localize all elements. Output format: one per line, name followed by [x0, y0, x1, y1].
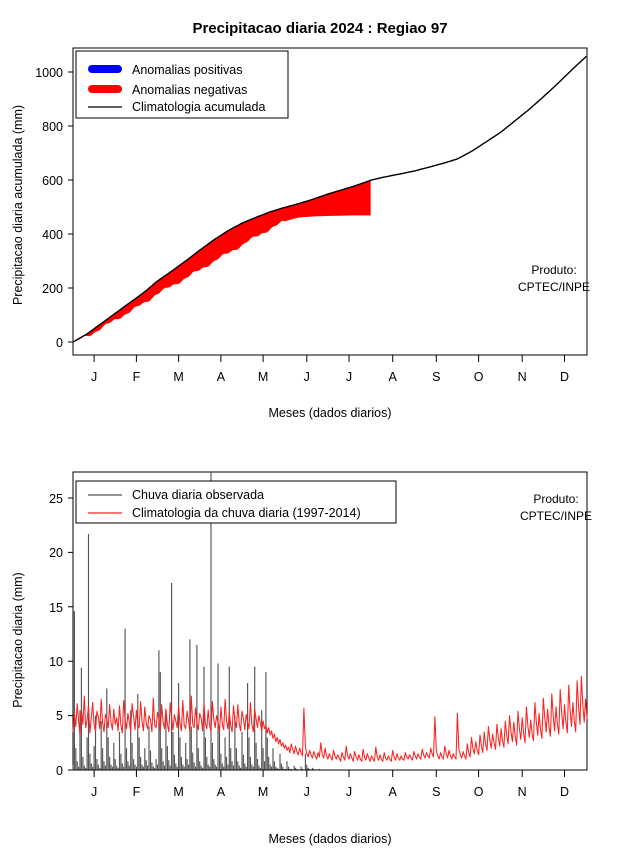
top-x-ticks: JFMAMJJASOND: [73, 355, 587, 384]
bottom-xlabel: Meses (dados diarios): [269, 832, 392, 846]
top-xtick-label-J: J: [346, 370, 352, 384]
legend-label-climatology-daily: Climatologia da chuva diaria (1997-2014): [132, 506, 361, 520]
bottom-xtick-label-J: J: [346, 785, 352, 799]
top-xtick-label-F: F: [133, 370, 141, 384]
bottom-xtick-label-F: F: [133, 785, 141, 799]
legend-swatch-negative: [88, 85, 122, 93]
bottom-xtick-label-D: D: [560, 785, 569, 799]
bottom-ytick-15: 15: [49, 601, 63, 615]
top-legend: Anomalias positivas Anomalias negativas …: [76, 51, 288, 118]
figure-svg: Precipitacao diaria 2024 : Regiao 97 0 2…: [0, 0, 640, 850]
bottom-ytick-0: 0: [56, 764, 63, 778]
top-ytick-800: 800: [42, 120, 63, 134]
top-ylabel: Precipitacao diaria acumulada (mm): [11, 105, 25, 305]
bottom-xtick-label-N: N: [518, 785, 527, 799]
top-xtick-label-M: M: [173, 370, 183, 384]
top-xtick-label-M: M: [258, 370, 268, 384]
top-xtick-label-S: S: [432, 370, 440, 384]
bottom-ytick-5: 5: [56, 709, 63, 723]
top-ytick-200: 200: [42, 282, 63, 296]
legend-swatch-positive: [88, 65, 122, 73]
bottom-produto-line2: CPTEC/INPE: [520, 509, 592, 523]
bottom-legend: Chuva diaria observada Climatologia da c…: [76, 481, 396, 523]
bottom-xtick-label-A: A: [389, 785, 398, 799]
top-xtick-label-A: A: [389, 370, 398, 384]
top-ytick-600: 600: [42, 174, 63, 188]
top-produto-annotation: Produto: CPTEC/INPE: [518, 263, 590, 294]
panel-daily: 0 5 10 15 20 25 Precipitacao diaria (mm)…: [11, 472, 592, 846]
bottom-xtick-label-S: S: [432, 785, 440, 799]
top-ytick-0: 0: [56, 336, 63, 350]
bottom-xtick-label-J: J: [91, 785, 97, 799]
bottom-ytick-20: 20: [49, 546, 63, 560]
top-xtick-label-A: A: [217, 370, 226, 384]
bottom-y-ticks: 0 5 10 15 20 25: [49, 492, 73, 778]
legend-label-positive: Anomalias positivas: [132, 63, 242, 77]
legend-label-climatology: Climatologia acumulada: [132, 100, 265, 114]
bottom-ytick-10: 10: [49, 655, 63, 669]
top-xtick-label-J: J: [304, 370, 310, 384]
page-title: Precipitacao diaria 2024 : Regiao 97: [192, 20, 447, 37]
top-produto-line2: CPTEC/INPE: [518, 280, 590, 294]
top-y-ticks: 0 200 400 600 800 1000: [35, 66, 73, 350]
top-xtick-label-J: J: [91, 370, 97, 384]
top-xtick-label-N: N: [518, 370, 527, 384]
bottom-produto-annotation: Produto: CPTEC/INPE: [520, 492, 592, 523]
top-produto-line1: Produto:: [531, 263, 576, 277]
bottom-ylabel: Precipitacao diaria (mm): [11, 572, 25, 707]
bottom-xtick-label-J: J: [304, 785, 310, 799]
legend-label-negative: Anomalias negativas: [132, 83, 247, 97]
climatology-daily-line: [73, 676, 587, 761]
bottom-xtick-label-M: M: [258, 785, 268, 799]
negative-anomaly-fill: [73, 180, 370, 342]
top-ytick-1000: 1000: [35, 66, 63, 80]
legend-label-observed: Chuva diaria observada: [132, 488, 264, 502]
panel-accumulated: Precipitacao diaria 2024 : Regiao 97 0 2…: [11, 20, 590, 420]
bottom-xtick-label-A: A: [217, 785, 226, 799]
top-xtick-label-D: D: [560, 370, 569, 384]
top-ytick-400: 400: [42, 228, 63, 242]
precipitation-figure: Precipitacao diaria 2024 : Regiao 97 0 2…: [0, 0, 640, 850]
top-xtick-label-O: O: [474, 370, 484, 384]
bottom-xtick-label-O: O: [474, 785, 484, 799]
top-xlabel: Meses (dados diarios): [269, 406, 392, 420]
bottom-ytick-25: 25: [49, 492, 63, 506]
bottom-x-ticks: JFMAMJJASOND: [73, 770, 587, 799]
bottom-produto-line1: Produto:: [533, 492, 578, 506]
bottom-xtick-label-M: M: [173, 785, 183, 799]
